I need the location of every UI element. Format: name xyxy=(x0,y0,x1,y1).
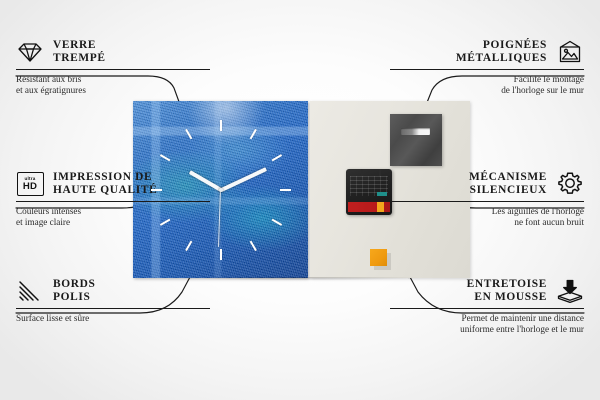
quartz-mechanism-box xyxy=(346,169,392,215)
feature-title: ENTRETOISE EN MOUSSE xyxy=(467,278,547,304)
feature-heading: BORDS POLIS xyxy=(16,277,210,305)
feature-heading: VERRE TREMPÉ xyxy=(16,38,210,66)
mechanism-red-label xyxy=(348,202,390,212)
polished-edge-icon xyxy=(16,277,44,305)
feature-poignees-metalliques: POIGNÉES MÉTALLIQUES Facilite le montage… xyxy=(390,38,584,96)
hanger-slot xyxy=(401,128,430,135)
picture-hanger-icon xyxy=(556,38,584,66)
infographic-canvas: VERRE TREMPÉ Résistant aux bris et aux é… xyxy=(0,0,600,400)
press-down-pad-icon xyxy=(556,277,584,305)
feature-description: Les aiguilles de l'horloge ne font aucun… xyxy=(390,206,584,228)
hour-tick xyxy=(151,189,221,191)
clock-face xyxy=(133,101,308,278)
mechanism-teal-mark xyxy=(377,192,387,196)
feature-description: Permet de maintenir une distance uniform… xyxy=(390,313,584,335)
metal-hanger-plate xyxy=(390,114,442,166)
feature-title: BORDS POLIS xyxy=(53,278,96,304)
feature-description: Facilite le montage de l'horloge sur le … xyxy=(390,74,584,96)
feature-verre-trempe: VERRE TREMPÉ Résistant aux bris et aux é… xyxy=(16,38,210,96)
feature-divider xyxy=(16,308,210,309)
feature-divider xyxy=(390,308,584,309)
feature-title: MÉCANISME SILENCIEUX xyxy=(469,171,547,197)
feature-heading: ENTRETOISE EN MOUSSE xyxy=(390,277,584,305)
feature-divider xyxy=(390,201,584,202)
hd-badge: ultra HD xyxy=(17,172,44,196)
clock-dial xyxy=(133,101,308,278)
hd-badge-large-text: HD xyxy=(23,182,37,192)
ultra-hd-icon: ultra HD xyxy=(16,170,44,198)
feature-title: POIGNÉES MÉTALLIQUES xyxy=(456,39,547,65)
feature-description: Surface lisse et sûre xyxy=(16,313,210,324)
feature-divider xyxy=(390,69,584,70)
feature-heading: MÉCANISME SILENCIEUX xyxy=(390,170,584,198)
hands-center-cap xyxy=(219,188,223,192)
hour-tick xyxy=(220,120,222,190)
diamond-icon xyxy=(16,38,44,66)
feature-entretoise-en-mousse: ENTRETOISE EN MOUSSE Permet de maintenir… xyxy=(390,277,584,335)
hour-tick xyxy=(221,189,291,191)
feature-divider xyxy=(16,69,210,70)
feature-title: VERRE TREMPÉ xyxy=(53,39,106,65)
foam-spacer xyxy=(370,249,387,266)
feature-mecanisme-silencieux: MÉCANISME SILENCIEUX Les aiguilles de l'… xyxy=(390,170,584,228)
gear-icon xyxy=(556,170,584,198)
feature-description: Résistant aux bris et aux égratignures xyxy=(16,74,210,96)
feature-bords-polis: BORDS POLIS Surface lisse et sûre xyxy=(16,277,210,324)
feature-heading: POIGNÉES MÉTALLIQUES xyxy=(390,38,584,66)
